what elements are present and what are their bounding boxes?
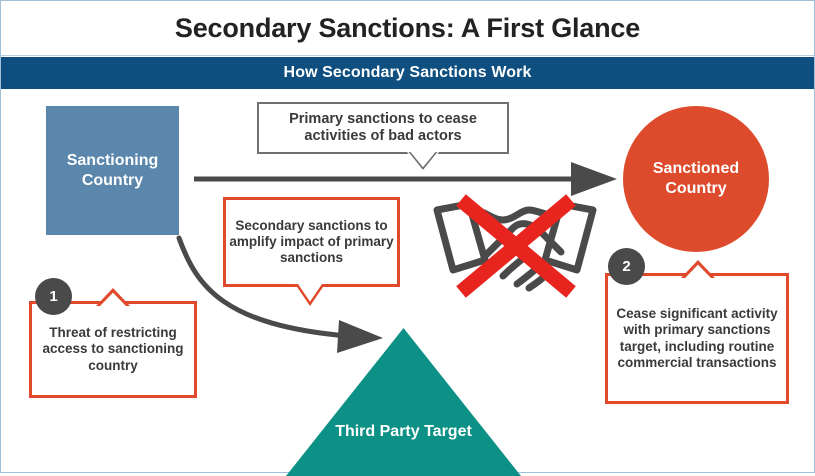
subtitle-text: How Secondary Sanctions Work [284,64,532,82]
threat-callout: Threat of restricting access to sanction… [29,301,197,398]
cease-activity-text: Cease significant activity with primary … [608,306,786,371]
sanctioning-country-node: Sanctioning Country [46,106,179,235]
step-badge-one: 1 [35,278,72,315]
title-bar: Secondary Sanctions: A First Glance [1,1,814,56]
third-party-target-label: Third Party Target [335,422,472,442]
threat-callout-text: Threat of restricting access to sanction… [32,325,194,374]
page-title: Secondary Sanctions: A First Glance [175,13,640,44]
step-badge-two-label: 2 [622,258,630,275]
primary-sanctions-callout: Primary sanctions to cease activities of… [257,102,509,154]
third-party-target-node: Third Party Target [286,328,521,476]
handshake-blocked-icon [429,190,601,300]
sanctioning-country-label: Sanctioning Country [46,151,179,191]
primary-callout-tail [407,152,439,170]
sanctioned-country-label: Sanctioned Country [623,159,769,199]
step-badge-one-label: 1 [49,288,57,305]
threat-callout-notch [96,288,130,304]
sanctioned-country-node: Sanctioned Country [623,106,769,252]
secondary-callout-tail [295,284,325,304]
cease-callout-notch [681,260,715,276]
secondary-sanctions-callout: Secondary sanctions to amplify impact of… [223,197,400,287]
step-badge-two: 2 [608,248,645,285]
primary-sanctions-text: Primary sanctions to cease activities of… [259,111,507,146]
cease-activity-callout: Cease significant activity with primary … [605,273,789,404]
diagram-canvas: Sanctioning Country Sanctioned Country T… [1,90,814,472]
infographic-root: Secondary Sanctions: A First Glance How … [0,0,815,473]
secondary-sanctions-text: Secondary sanctions to amplify impact of… [226,218,397,267]
subtitle-bar: How Secondary Sanctions Work [1,57,814,89]
